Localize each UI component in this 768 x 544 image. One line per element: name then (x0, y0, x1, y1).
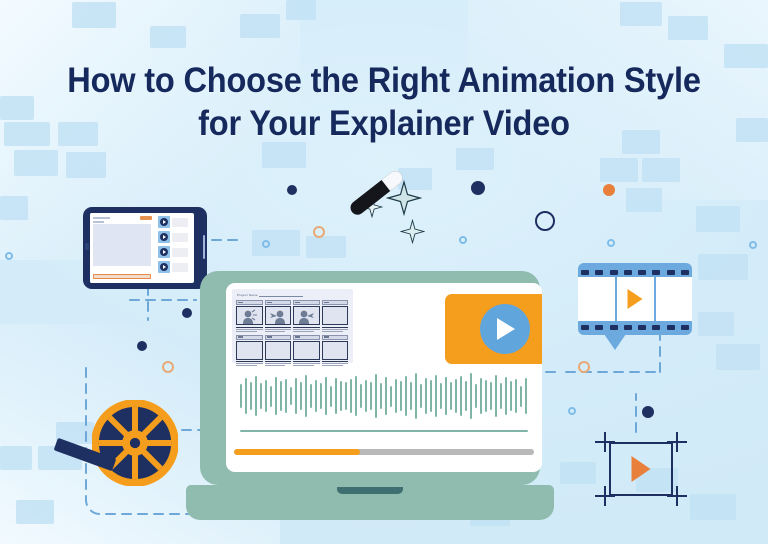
storyboard-frame-label (293, 300, 320, 305)
tablet-playlist-label (172, 248, 188, 257)
decorative-ring (578, 361, 590, 373)
waveform-baseline (240, 430, 528, 432)
audio-waveform[interactable] (240, 371, 530, 421)
infographic-canvas: How to Choose the Right Animation Style … (0, 0, 768, 544)
storyboard-frame-notes (265, 361, 292, 366)
page-title-line-2: for Your Explainer Video (27, 102, 741, 145)
storyboard-frame-cell[interactable] (293, 300, 320, 333)
filmstrip-sprocket-hole (610, 270, 618, 275)
storyboard-frame-cell[interactable] (236, 300, 263, 333)
play-circle-icon[interactable] (158, 231, 170, 243)
storyboard-title-rule (259, 296, 303, 297)
play-triangle-icon (497, 318, 515, 340)
tablet-video-area (93, 224, 151, 266)
decorative-dot (471, 181, 485, 195)
waveform-bar (245, 378, 247, 414)
storyboard-frame (265, 306, 292, 325)
waveform-bar (420, 384, 422, 407)
waveform-bar (505, 377, 507, 415)
filmstrip-sprocket-hole (581, 270, 589, 275)
waveform-bar (400, 381, 402, 410)
decorative-ring (459, 236, 467, 244)
play-circle-icon[interactable] (158, 216, 170, 228)
tablet-playlist-item[interactable] (158, 216, 192, 228)
waveform-bar (350, 379, 352, 413)
film-reel-icon (92, 400, 178, 486)
filmstrip-divider (654, 277, 656, 321)
waveform-bar (270, 386, 272, 407)
waveform-bar (250, 382, 252, 409)
tablet-camera-icon (85, 243, 89, 250)
waveform-bar (500, 383, 502, 408)
decorative-ring (749, 241, 757, 249)
storyboard-frame-label (236, 335, 263, 340)
storyboard-frame-label (265, 300, 292, 305)
filmstrip-sprocket-hole (595, 270, 603, 275)
waveform-bar (415, 373, 417, 419)
storyboard-frame (236, 341, 263, 360)
waveform-bar (455, 379, 457, 413)
waveform-bar (340, 381, 342, 410)
waveform-bar (355, 376, 357, 416)
waveform-bar (310, 384, 312, 407)
waveform-bar (445, 377, 447, 415)
storyboard-panel[interactable]: Project Name (232, 289, 353, 363)
waveform-bar (465, 381, 467, 410)
waveform-bar (320, 383, 322, 408)
waveform-bar (390, 386, 392, 407)
storyboard-frame (293, 341, 320, 360)
filmstrip-sprocket-hole (652, 270, 660, 275)
waveform-bar (240, 384, 242, 407)
waveform-bar (290, 387, 292, 406)
storyboard-frame-cell[interactable] (265, 300, 292, 333)
laptop-lid: Project Name (200, 271, 540, 485)
tablet-playlist-label (172, 233, 188, 242)
laptop-base (186, 485, 554, 520)
laptop-device[interactable]: Project Name (186, 271, 554, 520)
storyboard-frame-notes (322, 361, 349, 366)
filmstrip-sprocket-hole (638, 270, 646, 275)
waveform-bar (470, 373, 472, 419)
crop-marks-play-frame[interactable] (595, 432, 687, 506)
waveform-bar (430, 380, 432, 412)
play-button-circle[interactable] (480, 304, 530, 354)
crop-mark-icon (676, 486, 678, 506)
decorative-dot (603, 184, 615, 196)
waveform-bar (435, 375, 437, 417)
storyboard-frame-label (236, 300, 263, 305)
decorative-ring (607, 239, 615, 247)
waveform-bar (330, 386, 332, 407)
crop-mark-icon (604, 486, 606, 506)
filmstrip-sprocket-hole (595, 325, 603, 330)
waveform-bar (480, 378, 482, 414)
filmstrip-sprocket-hole (667, 325, 675, 330)
storyboard-row (236, 335, 349, 368)
waveform-bar (380, 383, 382, 408)
decorative-dot (287, 185, 297, 195)
waveform-bar (515, 379, 517, 413)
storyboard-frame-label (322, 335, 349, 340)
tablet-screen (90, 213, 194, 283)
decorative-ring (313, 226, 325, 238)
waveform-bar (325, 377, 327, 415)
filmstrip-speech-bubble[interactable] (578, 263, 692, 335)
playback-progress-bar[interactable] (234, 449, 534, 455)
waveform-bar (345, 382, 347, 409)
storyboard-frame-cell[interactable] (293, 335, 320, 368)
tablet-preview-pane (90, 213, 156, 283)
filmstrip-sprocket-hole (610, 325, 618, 330)
storyboard-frame-label (293, 335, 320, 340)
tablet-playlist-item[interactable] (158, 246, 192, 258)
filmstrip-sprocket-hole (681, 270, 689, 275)
decorative-ring (568, 407, 576, 415)
waveform-bar (475, 384, 477, 407)
storyboard-frame-notes (236, 327, 263, 332)
waveform-bar (485, 380, 487, 412)
waveform-bar (385, 377, 387, 415)
filmstrip-sprocket-hole (624, 270, 632, 275)
storyboard-frame-notes (236, 361, 263, 366)
play-triangle-icon[interactable] (632, 456, 651, 482)
laptop-base-notch (337, 487, 403, 494)
filmstrip-sprocket-hole (652, 325, 660, 330)
waveform-bar (255, 376, 257, 416)
play-triangle-icon[interactable] (628, 289, 643, 309)
decorative-ring (262, 240, 270, 248)
storyboard-grid (236, 300, 349, 369)
waveform-bar (495, 375, 497, 417)
tablet-side-button[interactable] (203, 235, 205, 259)
decorative-dot (642, 406, 654, 418)
tablet-text-line (93, 217, 110, 219)
storyboard-row (236, 300, 349, 333)
waveform-bar (285, 379, 287, 413)
waveform-bar (440, 383, 442, 408)
storyboard-frame-label (322, 300, 349, 305)
tablet-playlist-label (172, 218, 188, 227)
waveform-bar (410, 382, 412, 409)
filmstrip-sprockets-bottom (578, 323, 692, 331)
sparkle-icon (400, 219, 425, 244)
waveform-bar (525, 378, 527, 414)
waveform-bar (460, 376, 462, 416)
waveform-bar (365, 380, 367, 412)
page-title: How to Choose the Right Animation Style … (27, 59, 741, 145)
play-circle-icon[interactable] (158, 261, 170, 273)
waveform-bar (280, 381, 282, 410)
storyboard-frame (322, 341, 349, 360)
waveform-bar (425, 378, 427, 414)
waveform-bar (510, 381, 512, 410)
storyboard-frame-notes (265, 327, 292, 332)
progress-fill (234, 449, 360, 455)
storyboard-frame-cell[interactable] (265, 335, 292, 368)
waveform-bar (520, 386, 522, 407)
video-preview-card[interactable] (445, 294, 542, 364)
filmstrip-sprocket-hole (581, 325, 589, 330)
storyboard-frame-notes (322, 327, 349, 332)
waveform-bar (260, 383, 262, 408)
play-circle-icon[interactable] (158, 246, 170, 258)
filmstrip-sprocket-hole (681, 325, 689, 330)
crop-mark-icon (676, 432, 678, 452)
tablet-badge (140, 216, 152, 220)
filmstrip-sprocket-hole (638, 325, 646, 330)
storyboard-frame-notes (293, 327, 320, 332)
tablet-timeline-bar[interactable] (93, 274, 151, 279)
filmstrip-sprocket-hole (667, 270, 675, 275)
storyboard-frame-label (265, 335, 292, 340)
storyboard-frame (236, 306, 263, 325)
decorative-dot (137, 341, 147, 351)
waveform-bar (265, 380, 267, 412)
waveform-bar (305, 375, 307, 417)
storyboard-title: Project Name (237, 293, 258, 297)
waveform-bar (335, 378, 337, 414)
tablet-text-line (93, 221, 104, 223)
filmstrip-sprockets-top (578, 268, 692, 276)
waveform-bar (370, 382, 372, 409)
waveform-bar (360, 384, 362, 407)
waveform-bar (395, 379, 397, 413)
laptop-screen: Project Name (226, 283, 542, 472)
crop-mark-icon (604, 432, 606, 452)
storyboard-frame (322, 306, 349, 325)
storyboard-frame-cell[interactable] (236, 335, 263, 368)
waveform-bar (275, 377, 277, 415)
waveform-bar (315, 380, 317, 412)
waveform-bar (405, 376, 407, 416)
filmstrip-sprocket-hole (624, 325, 632, 330)
waveform-bar (450, 382, 452, 409)
waveform-bar (295, 378, 297, 414)
storyboard-frame (293, 306, 320, 325)
storyboard-frame-cell[interactable] (322, 300, 349, 333)
storyboard-frame (265, 341, 292, 360)
filmstrip-bubble-tail (604, 334, 626, 350)
waveform-bar (375, 374, 377, 418)
decorative-ring (5, 252, 13, 260)
film-reel-wheel (92, 400, 178, 486)
decorative-ring (535, 211, 555, 231)
filmstrip-divider (615, 277, 617, 321)
waveform-bar (300, 382, 302, 409)
page-title-line-1: How to Choose the Right Animation Style (67, 61, 701, 100)
tablet-playlist-item[interactable] (158, 231, 192, 243)
waveform-bar (490, 382, 492, 409)
storyboard-frame-cell[interactable] (322, 335, 349, 368)
storyboard-frame-notes (293, 361, 320, 366)
decorative-ring (162, 361, 174, 373)
